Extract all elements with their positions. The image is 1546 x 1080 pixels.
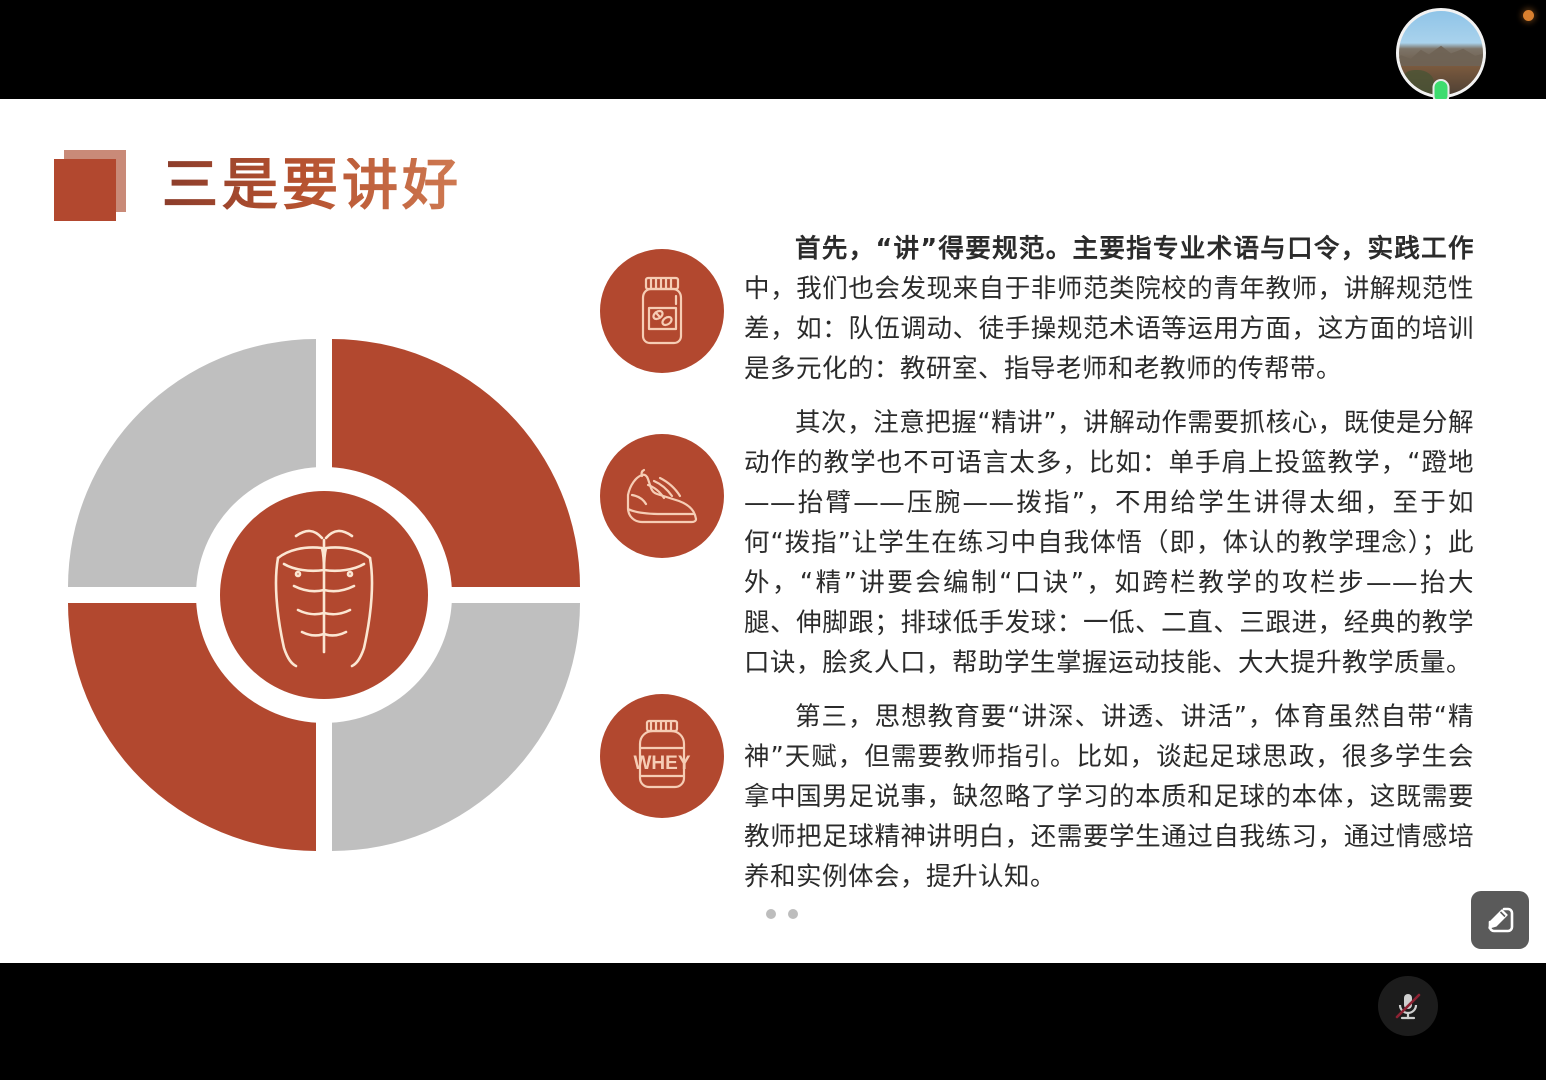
page-dot-2[interactable] [788,909,798,919]
running-shoe-icon [620,465,704,527]
page-indicator-dots[interactable] [766,909,798,919]
recording-indicator-dot [1523,10,1534,21]
paragraph-2: 其次，注意把握“精讲”，讲解动作需要抓核心，既使是分解动作的教学也不可语言太多，… [744,403,1474,683]
microphone-muted-icon [1391,989,1425,1023]
title-square-decoration [54,150,126,222]
presentation-slide: 三是要讲好 [0,99,1546,963]
page-dot-1[interactable] [766,909,776,919]
donut-infographic [68,339,580,851]
whey-label: WHEY [634,753,691,774]
running-shoe-icon-bubble [600,434,724,558]
whey-protein-icon: WHEY [627,718,697,794]
pill-bottle-icon-bubble [600,249,724,373]
slide-title-row: 三是要讲好 [54,150,462,222]
paragraph-3: 第三，思想教育要“讲深、讲透、讲活”，体育虽然自带“精神”天赋，但需要教师指引。… [744,697,1474,897]
avatar-ridge-decoration [1396,41,1486,66]
title-square-front [54,159,116,221]
pill-bottle-icon [629,274,695,348]
paragraph-1: 首先，“讲”得要规范。主要指专业术语与口令，实践工作中，我们也会发现来自于非师范… [744,229,1474,389]
mute-microphone-button[interactable] [1378,976,1438,1036]
pencil-square-icon [1484,904,1516,936]
donut-center-circle [220,491,428,699]
meeting-screen-share-view: 徐家林的屏幕共享 三是要讲好 [0,0,1546,1080]
whey-protein-icon-bubble: WHEY [600,694,724,818]
avatar-shrub-decoration [1402,70,1434,95]
participant-avatar[interactable] [1396,8,1486,98]
slide-body-text: 首先，“讲”得要规范。主要指专业术语与口令，实践工作中，我们也会发现来自于非师范… [744,229,1474,911]
torso-abs-icon [254,520,394,670]
slide-title: 三是要讲好 [162,158,462,214]
annotate-button[interactable] [1471,891,1529,949]
